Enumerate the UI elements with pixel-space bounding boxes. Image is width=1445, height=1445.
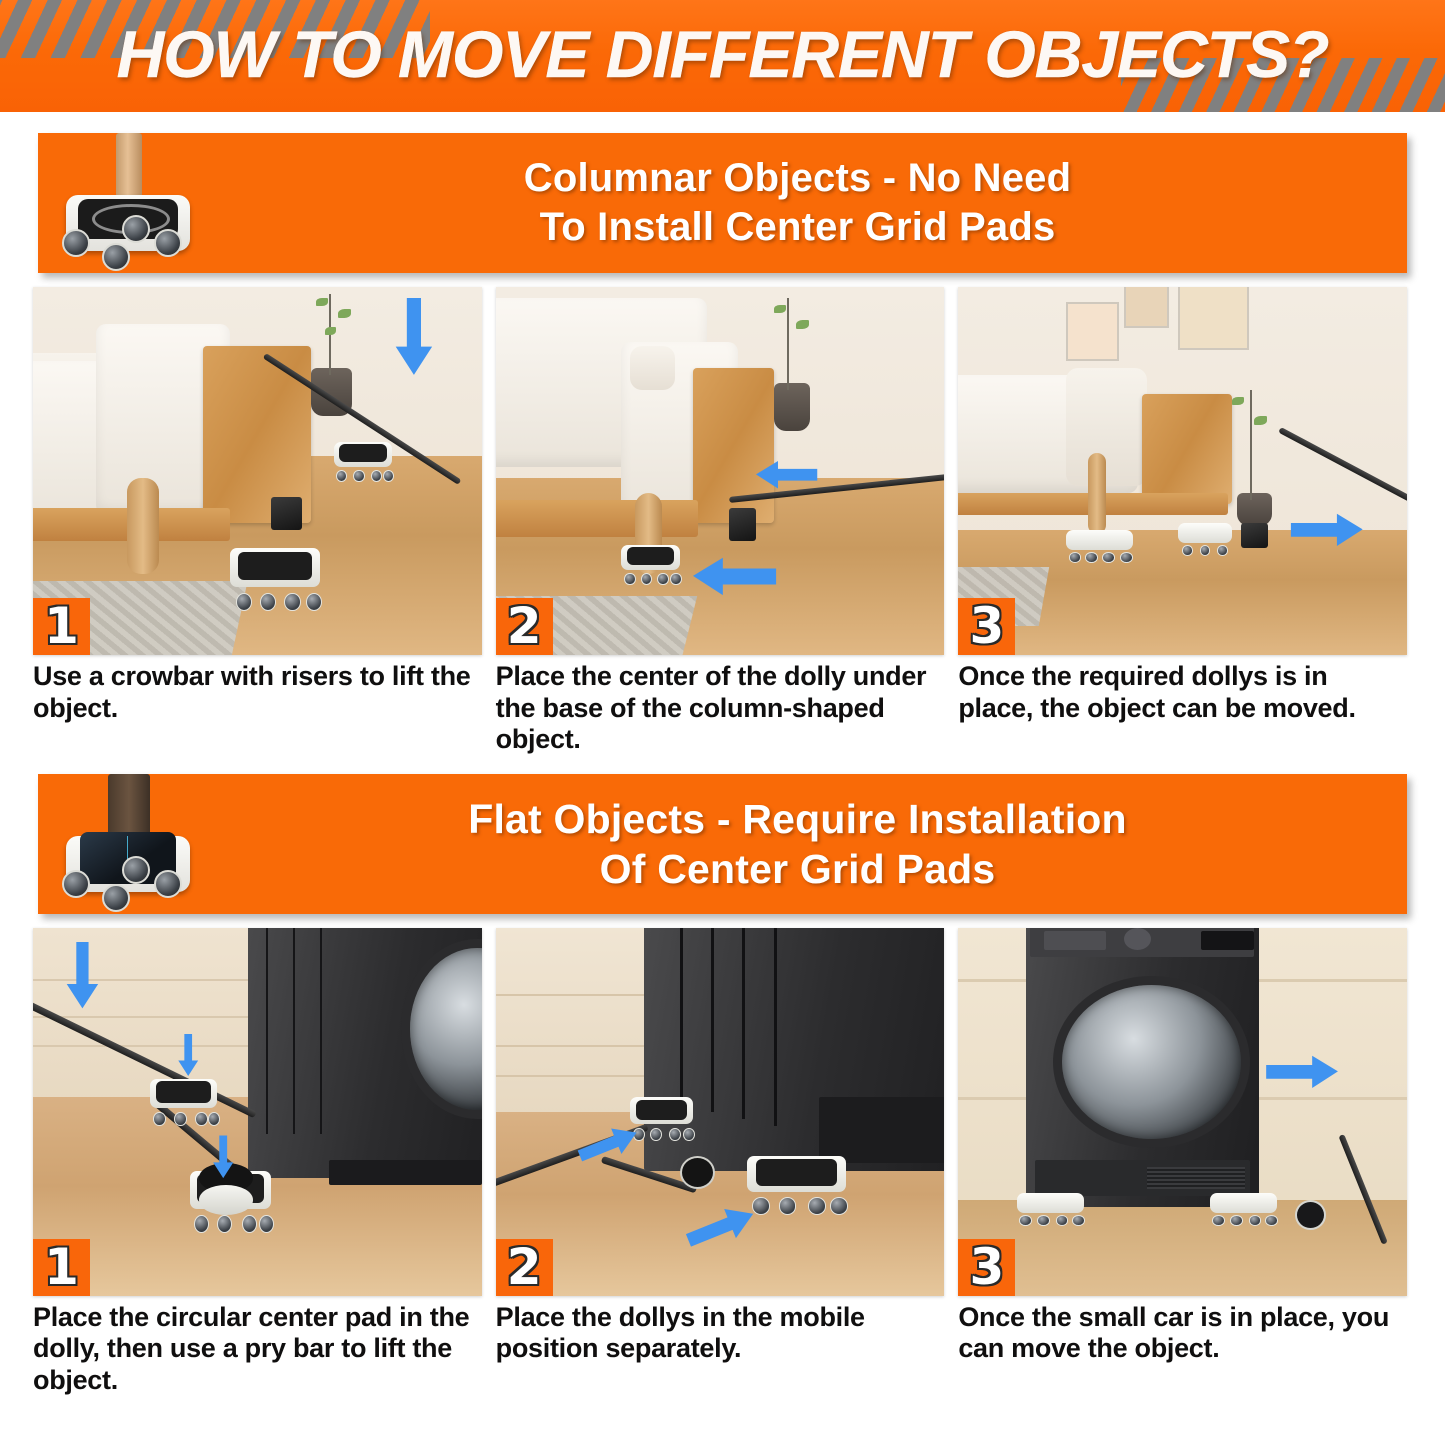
step-photo-flat-3: 3 <box>958 928 1407 1296</box>
arrow-down-icon <box>387 298 441 379</box>
arrow-down-icon <box>60 942 105 1012</box>
steps-row-columnar: 1 Use a crowbar with risers to lift the … <box>33 287 1407 756</box>
step-photo-flat-2: 2 <box>496 928 945 1296</box>
step-badge: 2 <box>496 598 553 655</box>
dolly-with-round-pad-icon <box>38 133 218 273</box>
step-card-flat-1: 1 Place the circular center pad in the d… <box>33 928 482 1397</box>
step-caption: Place the dollys in the mobile position … <box>496 1302 945 1365</box>
arrow-right-icon <box>1263 1053 1339 1090</box>
arrow-left-icon <box>693 552 778 600</box>
infographic-page: HOW TO MOVE DIFFERENT OBJECTS? Columnar … <box>0 0 1445 1445</box>
section-banner-flat-text: Flat Objects - Require Installation Of C… <box>218 794 1407 894</box>
step-caption: Once the required dollys is in place, th… <box>958 661 1407 724</box>
section-banner-flat: Flat Objects - Require Installation Of C… <box>38 774 1407 914</box>
step-card-columnar-2: 2 Place the center of the dolly under th… <box>496 287 945 756</box>
steps-row-flat: 1 Place the circular center pad in the d… <box>33 928 1407 1397</box>
step-card-flat-2: 2 Place the dollys in the mobile positio… <box>496 928 945 1397</box>
step-card-columnar-3: 3 Once the required dollys is in place, … <box>958 287 1407 756</box>
step-caption: Once the small car is in place, you can … <box>958 1302 1407 1365</box>
section-banner-columnar-text: Columnar Objects - No Need To Install Ce… <box>218 154 1407 252</box>
step-caption: Use a crowbar with risers to lift the ob… <box>33 661 482 724</box>
step-caption: Place the center of the dolly under the … <box>496 661 945 756</box>
step-badge: 3 <box>958 1239 1015 1296</box>
step-badge: 2 <box>496 1239 553 1296</box>
step-photo-flat-1: 1 <box>33 928 482 1296</box>
arrow-down-icon <box>177 1034 199 1078</box>
dolly-with-square-grid-pad-icon <box>38 774 218 914</box>
banner-line-1: Flat Objects - Require Installation <box>218 794 1377 844</box>
wall-art-frame <box>1066 302 1119 361</box>
step-photo-columnar-2: 2 <box>496 287 945 655</box>
step-photo-columnar-1: 1 <box>33 287 482 655</box>
banner-line-2: To Install Center Grid Pads <box>218 203 1377 252</box>
section-banner-columnar: Columnar Objects - No Need To Install Ce… <box>38 133 1407 273</box>
page-title: HOW TO MOVE DIFFERENT OBJECTS? <box>0 6 1445 102</box>
wall-art-frame <box>1124 287 1168 328</box>
wall-art-frame <box>1178 287 1249 350</box>
banner-line-1: Columnar Objects - No Need <box>218 154 1377 203</box>
arrow-left-icon <box>756 456 819 493</box>
step-card-columnar-1: 1 Use a crowbar with risers to lift the … <box>33 287 482 756</box>
arrow-right-icon <box>1281 511 1371 548</box>
header-banner: HOW TO MOVE DIFFERENT OBJECTS? <box>0 0 1445 112</box>
arrow-down-icon <box>212 1134 234 1182</box>
step-badge: 1 <box>33 1239 90 1296</box>
step-badge: 3 <box>958 598 1015 655</box>
step-card-flat-3: 3 Once the small car is in place, you ca… <box>958 928 1407 1397</box>
banner-line-2: Of Center Grid Pads <box>218 844 1377 894</box>
step-caption: Place the circular center pad in the dol… <box>33 1302 482 1397</box>
step-photo-columnar-3: 3 <box>958 287 1407 655</box>
step-badge: 1 <box>33 598 90 655</box>
